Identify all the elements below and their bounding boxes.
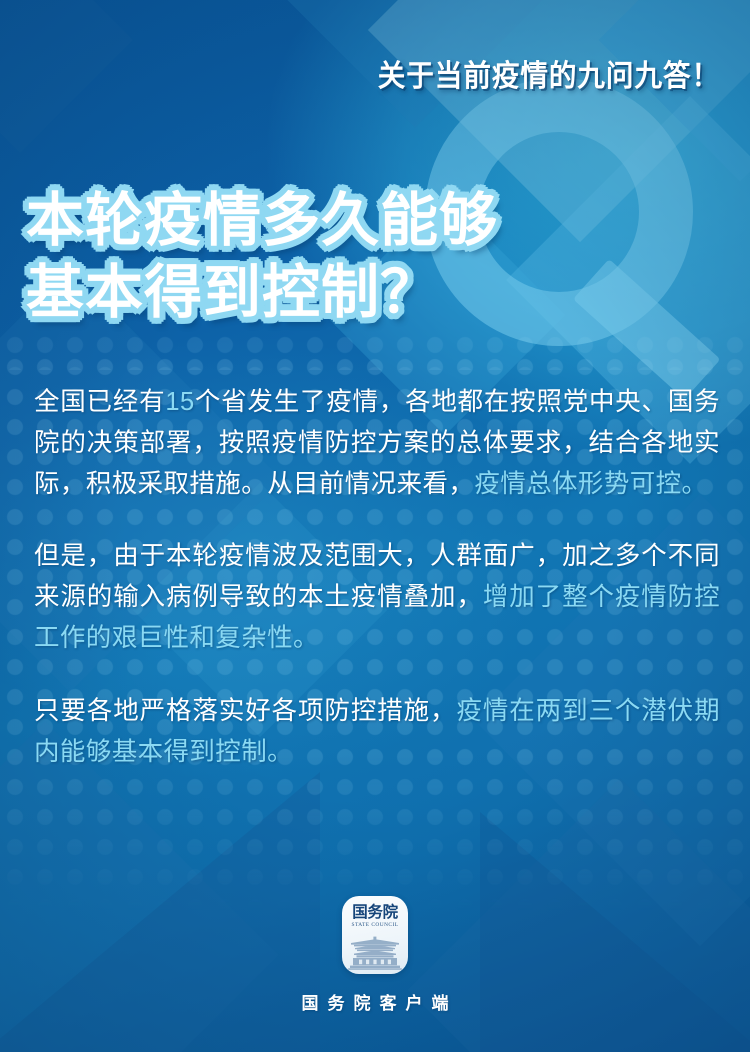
highlighted-text: 疫情总体形势可控。 [474, 470, 707, 498]
logo-chinese-name: 国务院 [352, 905, 398, 921]
body-copy: 全国已经有15个省发生了疫情，各地都在按照党中央、国务院的决策部署，按照疫情防控… [34, 382, 720, 772]
paragraph: 全国已经有15个省发生了疫情，各地都在按照党中央、国务院的决策部署，按照疫情防控… [34, 382, 720, 504]
page-title: 本轮疫情多久能够 基本得到控制？ [26, 186, 586, 328]
footer: 国务院 STATE COUNCIL [0, 896, 750, 1014]
body-text: 只要各地严格落实好各项防控措施， [34, 697, 456, 725]
page-title-line-1: 本轮疫情多久能够 [26, 186, 586, 256]
account-name: 国务院客户端 [293, 989, 458, 1014]
paragraph: 只要各地严格落实好各项防控措施，疫情在两到三个潜伏期内能够基本得到控制。 [34, 691, 720, 773]
page-title-line-2: 基本得到控制？ [26, 258, 586, 328]
paragraph: 但是，由于本轮疫情波及范围大，人群面广，加之多个不同来源的输入病例导致的本土疫情… [34, 536, 720, 658]
government-building-icon [342, 936, 408, 970]
logo-english-name: STATE COUNCIL [352, 923, 399, 928]
highlighted-text: 15 [165, 388, 194, 416]
body-text: 全国已经有 [34, 388, 165, 416]
state-council-logo: 国务院 STATE COUNCIL [342, 896, 408, 974]
series-kicker: 关于当前疫情的九问九答！ [378, 51, 720, 95]
poster-root: 关于当前疫情的九问九答！ 本轮疫情多久能够 基本得到控制？ 全国已经有15个省发… [0, 0, 750, 1052]
